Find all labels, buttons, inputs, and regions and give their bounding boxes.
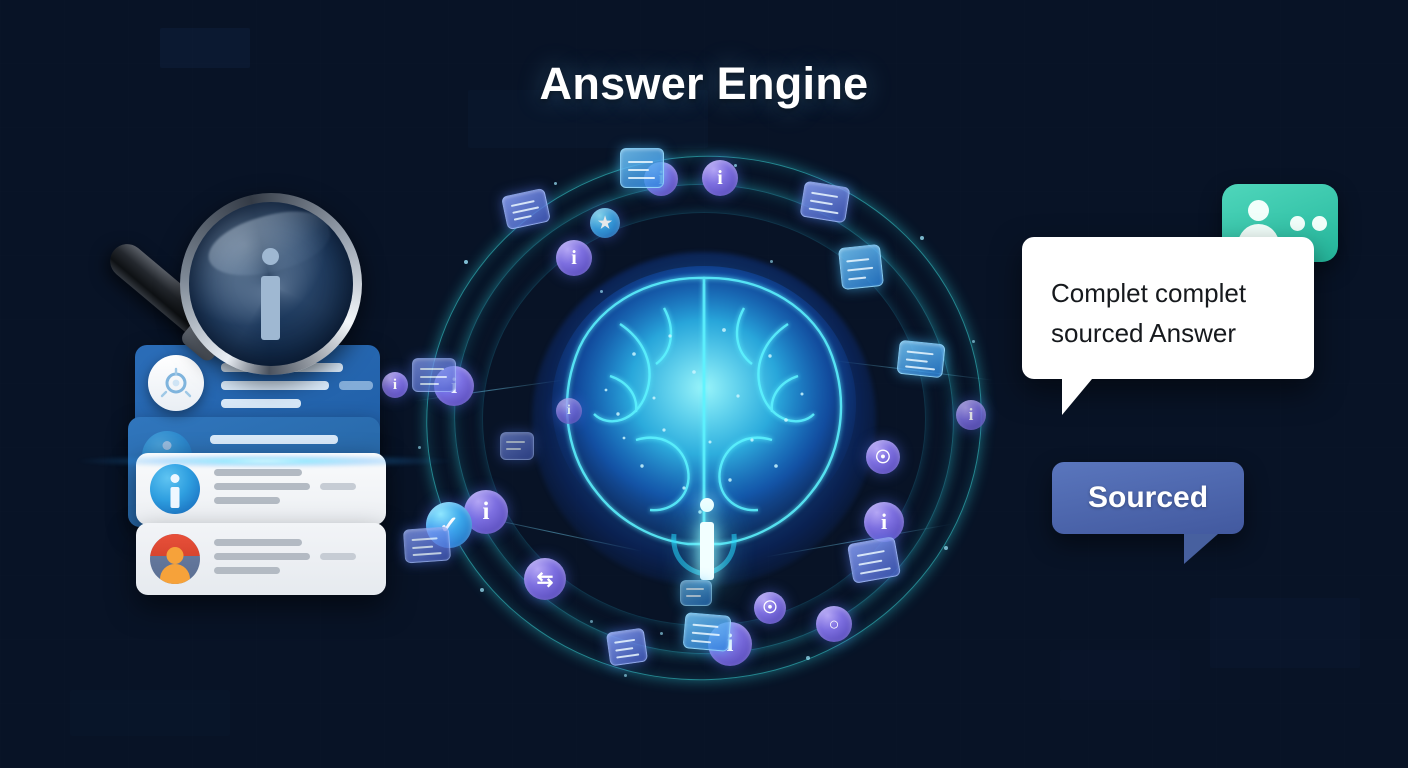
person-avatar	[150, 534, 200, 584]
orbit-arrows-badge: ⇆	[524, 558, 566, 600]
magnifying-glass[interactable]	[76, 191, 336, 451]
magnifier-lens	[189, 202, 353, 366]
orbit-document-card	[620, 148, 664, 188]
sourced-badge-label: Sourced	[1052, 462, 1244, 534]
bg-block	[1210, 598, 1360, 668]
result-card[interactable]	[136, 523, 386, 595]
orbit-document-card	[500, 432, 534, 460]
page-title: Answer Engine	[0, 58, 1408, 110]
particle	[920, 236, 924, 240]
particle	[972, 340, 975, 343]
orbit-document-card	[896, 340, 945, 379]
chat-dot	[1312, 216, 1327, 231]
orbit-info-badge: i	[864, 502, 904, 542]
answer-speech-bubble: Complet complet sourced Answer	[1022, 237, 1314, 379]
orbit-info-badge: ★	[590, 208, 620, 238]
particle	[660, 632, 663, 635]
chat-dot	[1290, 216, 1305, 231]
answer-bubble-text: Complet complet sourced Answer	[1051, 273, 1301, 353]
particle	[600, 290, 603, 293]
orbit-info-badge: i	[556, 240, 592, 276]
particle	[770, 260, 773, 263]
orbit-info-badge: ☉	[754, 592, 786, 624]
search-results-group	[60, 185, 410, 615]
answer-line-2: sourced Answer	[1051, 313, 1301, 353]
info-badge-icon	[150, 464, 200, 514]
particle	[806, 656, 810, 660]
particle	[590, 620, 593, 623]
particle	[464, 260, 468, 264]
bg-block	[1060, 650, 1180, 700]
bg-block	[70, 690, 230, 736]
illustration-canvas: Answer Engine	[0, 0, 1408, 768]
orbit-document-card	[403, 526, 451, 563]
orbit-lock-badge: ☉	[866, 440, 900, 474]
orbit-document-card	[838, 244, 884, 290]
orbit-ring-badge: ○	[816, 606, 852, 642]
person-head	[1248, 200, 1269, 221]
orbit-document-card	[680, 580, 712, 606]
sourced-badge: Sourced	[1052, 462, 1244, 534]
particle	[480, 588, 484, 592]
orbit-info-badge: i	[556, 398, 582, 424]
orbit-document-card	[606, 628, 648, 667]
answer-line-1: Complet complet	[1051, 273, 1301, 313]
orbit-info-badge: i	[702, 160, 738, 196]
particle	[624, 674, 627, 677]
particle	[554, 182, 557, 185]
orbit-info-badge: i	[956, 400, 986, 430]
orbit-document-card	[799, 181, 850, 224]
knowledge-orb: i i i i i i i i i ✓ ⇆ i ☉ ☉ ○ ★	[404, 140, 1004, 700]
particle	[734, 164, 737, 167]
orbit-document-card	[683, 612, 732, 652]
information-glyph	[257, 248, 283, 340]
orbit-document-card	[412, 358, 456, 392]
orbit-document-card	[847, 536, 901, 584]
particle	[944, 546, 948, 550]
search-icon	[148, 355, 204, 411]
particle	[418, 446, 421, 449]
light-streak	[70, 453, 460, 469]
